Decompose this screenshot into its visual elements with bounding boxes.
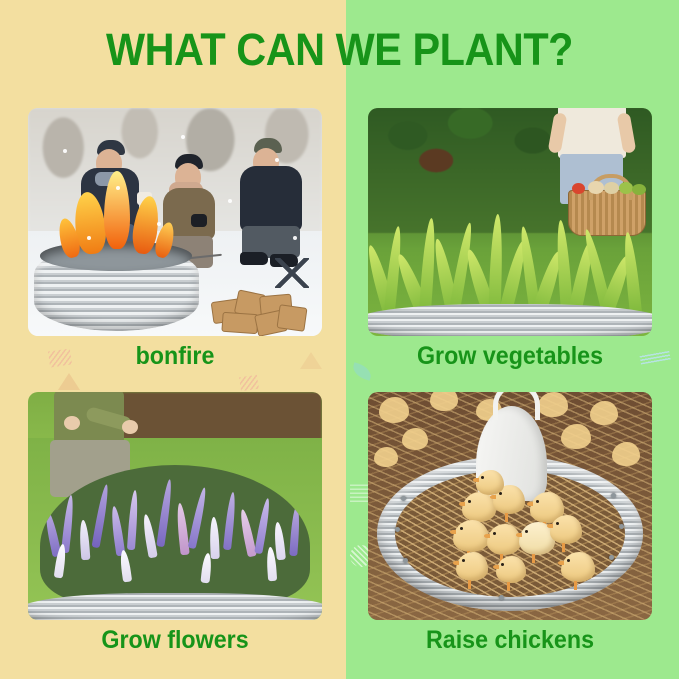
legs <box>507 582 510 591</box>
background-chick <box>379 397 409 423</box>
legs <box>505 513 508 522</box>
beak <box>459 502 465 506</box>
eye <box>493 532 496 535</box>
flower-spike <box>273 522 286 561</box>
snowflake <box>87 236 91 240</box>
rivet <box>499 595 504 600</box>
winter-coat <box>240 166 302 232</box>
log <box>277 305 308 333</box>
caption-grow-vegetables: Grow vegetables <box>378 342 642 371</box>
legs <box>562 543 565 552</box>
beak <box>484 534 490 538</box>
flower-spike <box>157 478 174 546</box>
rivet <box>611 493 616 498</box>
beak <box>527 502 533 506</box>
feature-cell-raise-chickens[interactable]: Raise chickens <box>368 392 652 620</box>
corn-leaves <box>368 176 652 317</box>
eye <box>567 559 570 562</box>
background-chick <box>374 447 398 467</box>
caption-bonfire: bonfire <box>38 342 311 371</box>
snowflake <box>116 186 120 190</box>
flower-spike <box>91 484 110 548</box>
eye <box>499 492 502 495</box>
beak <box>558 561 564 565</box>
rivet <box>403 558 408 563</box>
photo-grow-flowers <box>28 392 322 620</box>
flower-spike <box>79 519 91 560</box>
rivet <box>609 555 614 560</box>
galvanized-fire-ring <box>34 245 199 332</box>
chick <box>561 552 595 582</box>
rivet <box>619 524 624 529</box>
legs <box>532 554 535 563</box>
flower-spike <box>188 487 209 549</box>
eye <box>525 530 528 533</box>
background-chick <box>561 424 591 449</box>
photo-grow-vegetables <box>368 108 652 336</box>
eye <box>468 500 471 503</box>
page-title: WHAT CAN WE PLANT? <box>27 24 652 76</box>
chick <box>550 515 582 544</box>
feature-cell-grow-vegetables[interactable]: Grow vegetables <box>368 108 652 336</box>
flower-spike <box>127 489 139 549</box>
beak <box>547 524 553 528</box>
chick <box>456 552 488 581</box>
legs <box>468 580 471 589</box>
snowflake <box>293 236 297 240</box>
firewood-pile <box>210 279 310 334</box>
flower-spike <box>175 503 189 556</box>
flower-spike <box>109 506 125 557</box>
caption-raise-chickens: Raise chickens <box>378 626 642 655</box>
waterer-handle <box>493 392 540 420</box>
photo-bonfire <box>28 108 322 336</box>
gloved-hand <box>64 416 80 430</box>
eye <box>462 559 465 562</box>
beak <box>453 561 459 565</box>
caption-grow-flowers: Grow flowers <box>38 626 311 655</box>
photo-raise-chickens <box>368 392 652 620</box>
beak <box>516 533 522 537</box>
feature-cell-bonfire[interactable]: bonfire <box>28 108 322 336</box>
background-chick <box>538 392 568 417</box>
galvanized-raised-bed <box>368 304 652 336</box>
glove <box>191 214 207 227</box>
feature-grid: bonfire <box>0 104 679 679</box>
boot <box>240 252 268 265</box>
rivet <box>401 496 406 501</box>
eye <box>501 563 504 566</box>
chick <box>496 556 526 583</box>
background-chick <box>402 428 428 450</box>
chick <box>487 524 521 555</box>
background-chick <box>612 442 640 466</box>
product-infographic: WHAT CAN WE PLANT? <box>0 0 679 679</box>
beak <box>490 495 496 499</box>
beak <box>473 478 479 482</box>
beak <box>493 565 499 569</box>
flower-spike <box>254 498 272 555</box>
eye <box>481 476 484 479</box>
beak <box>450 530 456 534</box>
feature-cell-grow-flowers[interactable]: Grow flowers <box>28 392 322 620</box>
galvanized-raised-bed <box>28 593 322 620</box>
background-chick <box>590 401 618 425</box>
corn-leaf <box>418 217 437 318</box>
eye <box>536 500 539 503</box>
flower-spike <box>223 492 237 551</box>
flower-spike <box>209 517 219 559</box>
gloved-hand <box>122 420 138 434</box>
eye <box>556 522 559 525</box>
rivet <box>395 527 400 532</box>
white-top <box>558 108 626 158</box>
flower-spike <box>119 549 132 582</box>
log <box>222 312 259 334</box>
flower-spike <box>141 514 158 559</box>
legs <box>574 581 577 590</box>
chick <box>476 470 504 495</box>
eye <box>460 527 463 530</box>
